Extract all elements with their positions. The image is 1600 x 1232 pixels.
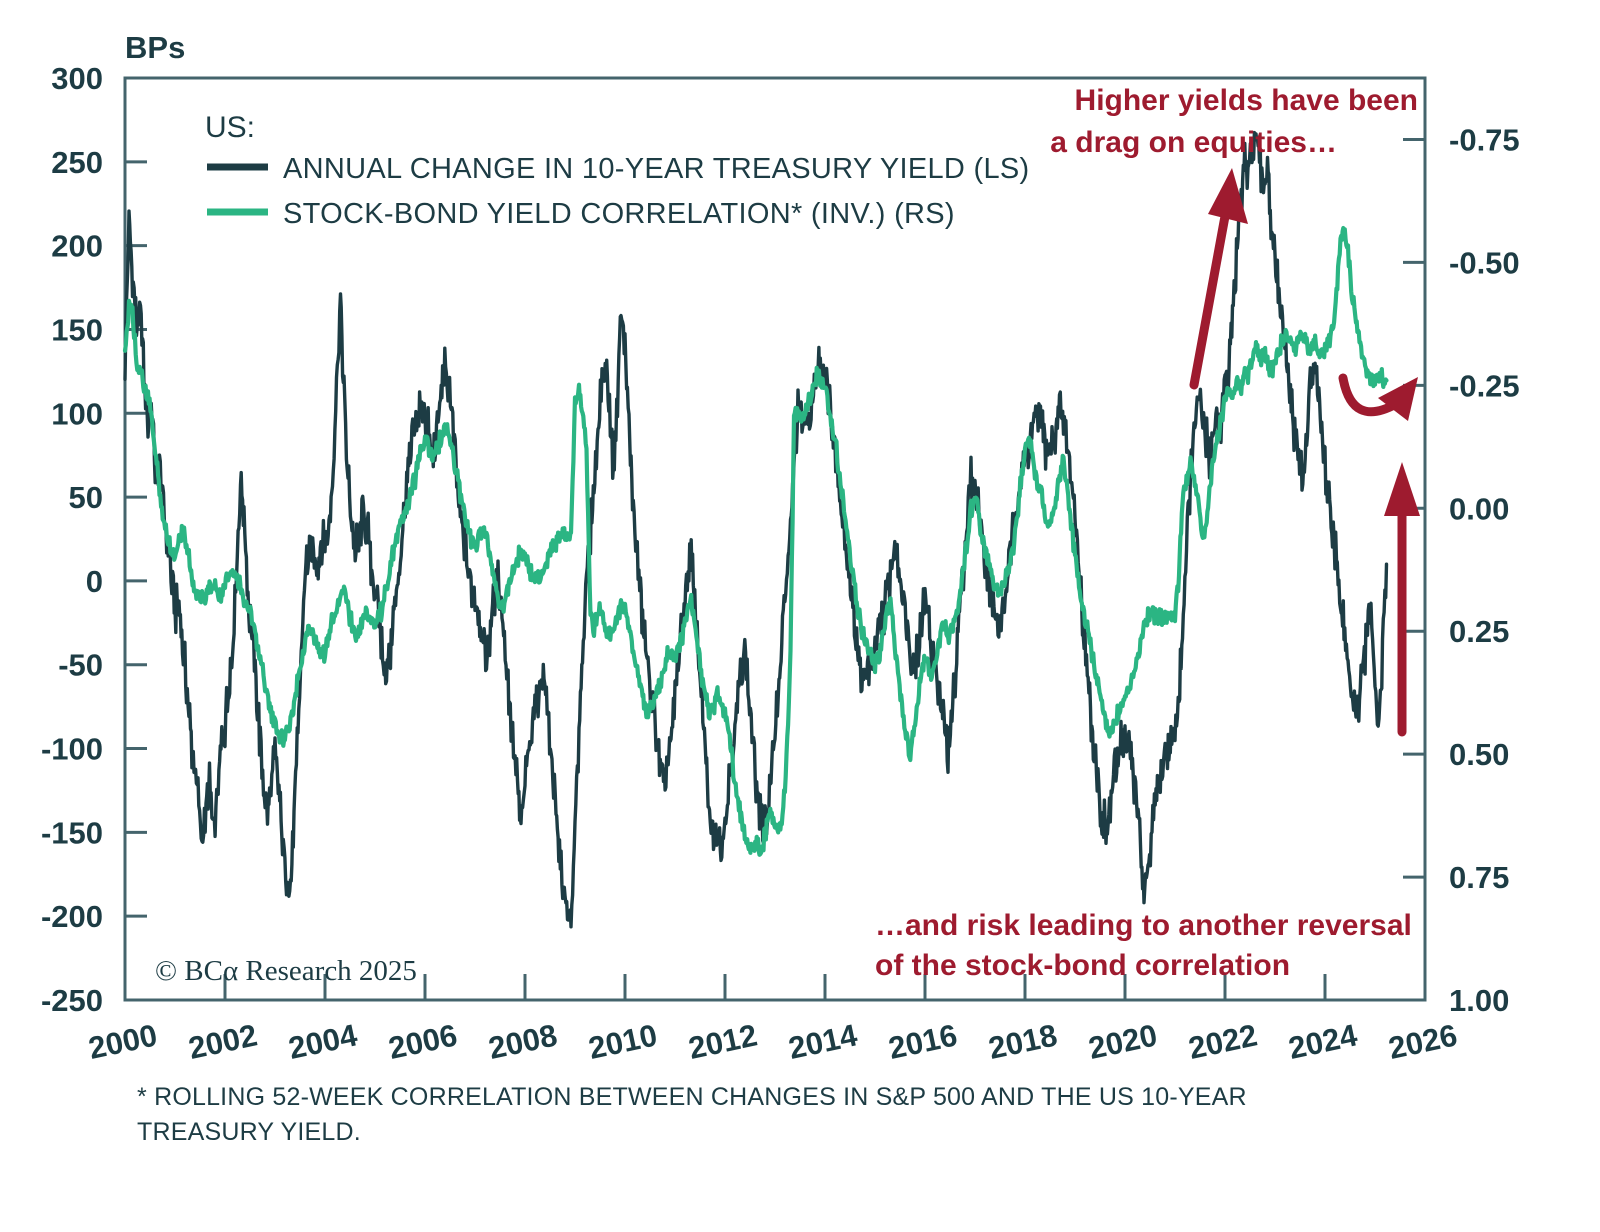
arrow-curved-reversal bbox=[1343, 377, 1418, 421]
series-line-treasury-yield-change bbox=[125, 133, 1387, 927]
y-tick-label-left: -100 bbox=[41, 732, 103, 767]
copyright-notice: © BCα Research 2025 bbox=[155, 955, 417, 987]
annotation-top-line1: Higher yields have been bbox=[1075, 84, 1418, 117]
y-tick-label-right: -0.25 bbox=[1449, 368, 1520, 403]
data-series-layer bbox=[125, 133, 1387, 927]
y-axis-unit-label: BPs bbox=[125, 30, 185, 65]
x-tick-label: 2026 bbox=[1385, 1017, 1460, 1066]
y-tick-label-left: 0 bbox=[86, 564, 103, 599]
y-axis-left-labels: 300250200150100500-50-100-150-200-250 bbox=[41, 61, 103, 1018]
y-axis-right-labels: -0.75-0.50-0.250.000.250.500.751.00 bbox=[1449, 122, 1520, 1018]
y-tick-label-left: 200 bbox=[51, 229, 103, 264]
y-tick-label-left: -250 bbox=[41, 983, 103, 1018]
x-tick-label: 2010 bbox=[585, 1017, 660, 1066]
y-tick-label-left: 100 bbox=[51, 396, 103, 431]
annotation-bottom-right: …and risk leading to another reversal of… bbox=[875, 909, 1412, 982]
footnote-line-2: TREASURY YIELD. bbox=[137, 1118, 361, 1146]
y-tick-label-left: -200 bbox=[41, 899, 103, 934]
x-tick-label: 2016 bbox=[885, 1017, 960, 1066]
y-tick-label-right: -0.50 bbox=[1449, 245, 1520, 280]
chart-canvas: BPs 300250200150100500-50-100-150-200-25… bbox=[0, 0, 1600, 1232]
legend: US: ANNUAL CHANGE IN 10-YEAR TREASURY YI… bbox=[205, 111, 1029, 230]
y-tick-label-right: 0.25 bbox=[1449, 614, 1509, 649]
legend-label-correlation: STOCK-BOND YIELD CORRELATION* (INV.) (RS… bbox=[283, 198, 955, 230]
y-tick-label-left: 50 bbox=[69, 480, 103, 515]
y-tick-label-left: 250 bbox=[51, 145, 103, 180]
annotation-top-line2: a drag on equities… bbox=[1050, 126, 1337, 159]
y-tick-label-left: -50 bbox=[58, 648, 103, 683]
y-tick-label-right: 0.50 bbox=[1449, 737, 1509, 772]
y-tick-label-left: 300 bbox=[51, 61, 103, 96]
x-tick-label: 2018 bbox=[985, 1017, 1060, 1066]
chart-root: BPs 300250200150100500-50-100-150-200-25… bbox=[0, 0, 1600, 1232]
x-tick-label: 2020 bbox=[1085, 1017, 1160, 1066]
legend-label-treasury: ANNUAL CHANGE IN 10-YEAR TREASURY YIELD … bbox=[283, 153, 1029, 185]
x-tick-label: 2006 bbox=[385, 1017, 460, 1066]
x-axis-labels: 2000200220042006200820102012201420162018… bbox=[85, 1017, 1460, 1066]
x-tick-label: 2022 bbox=[1185, 1017, 1260, 1066]
y-tick-label-right: -0.75 bbox=[1449, 122, 1520, 157]
arrow-up-right-correlation bbox=[1384, 462, 1420, 732]
x-tick-label: 2000 bbox=[85, 1017, 160, 1066]
footnote-line-1: * ROLLING 52-WEEK CORRELATION BETWEEN CH… bbox=[137, 1083, 1247, 1111]
annotation-top-right: Higher yields have been a drag on equiti… bbox=[1050, 84, 1418, 159]
annotation-bottom-line1: …and risk leading to another reversal bbox=[875, 909, 1412, 942]
x-tick-label: 2012 bbox=[685, 1017, 760, 1066]
arrow-up-left-equities bbox=[1194, 168, 1248, 385]
y-tick-label-left: -150 bbox=[41, 815, 103, 850]
x-tick-label: 2024 bbox=[1285, 1017, 1360, 1066]
y-tick-label-right: 1.00 bbox=[1449, 983, 1509, 1018]
x-tick-label: 2002 bbox=[185, 1017, 260, 1066]
y-tick-label-left: 150 bbox=[51, 312, 103, 347]
x-tick-label: 2004 bbox=[285, 1017, 360, 1066]
y-tick-label-right: 0.75 bbox=[1449, 860, 1509, 895]
annotation-bottom-line2: of the stock-bond correlation bbox=[875, 949, 1290, 982]
x-tick-label: 2014 bbox=[785, 1017, 860, 1066]
y-tick-label-right: 0.00 bbox=[1449, 491, 1509, 526]
legend-title: US: bbox=[205, 111, 255, 144]
x-tick-label: 2008 bbox=[485, 1017, 560, 1066]
